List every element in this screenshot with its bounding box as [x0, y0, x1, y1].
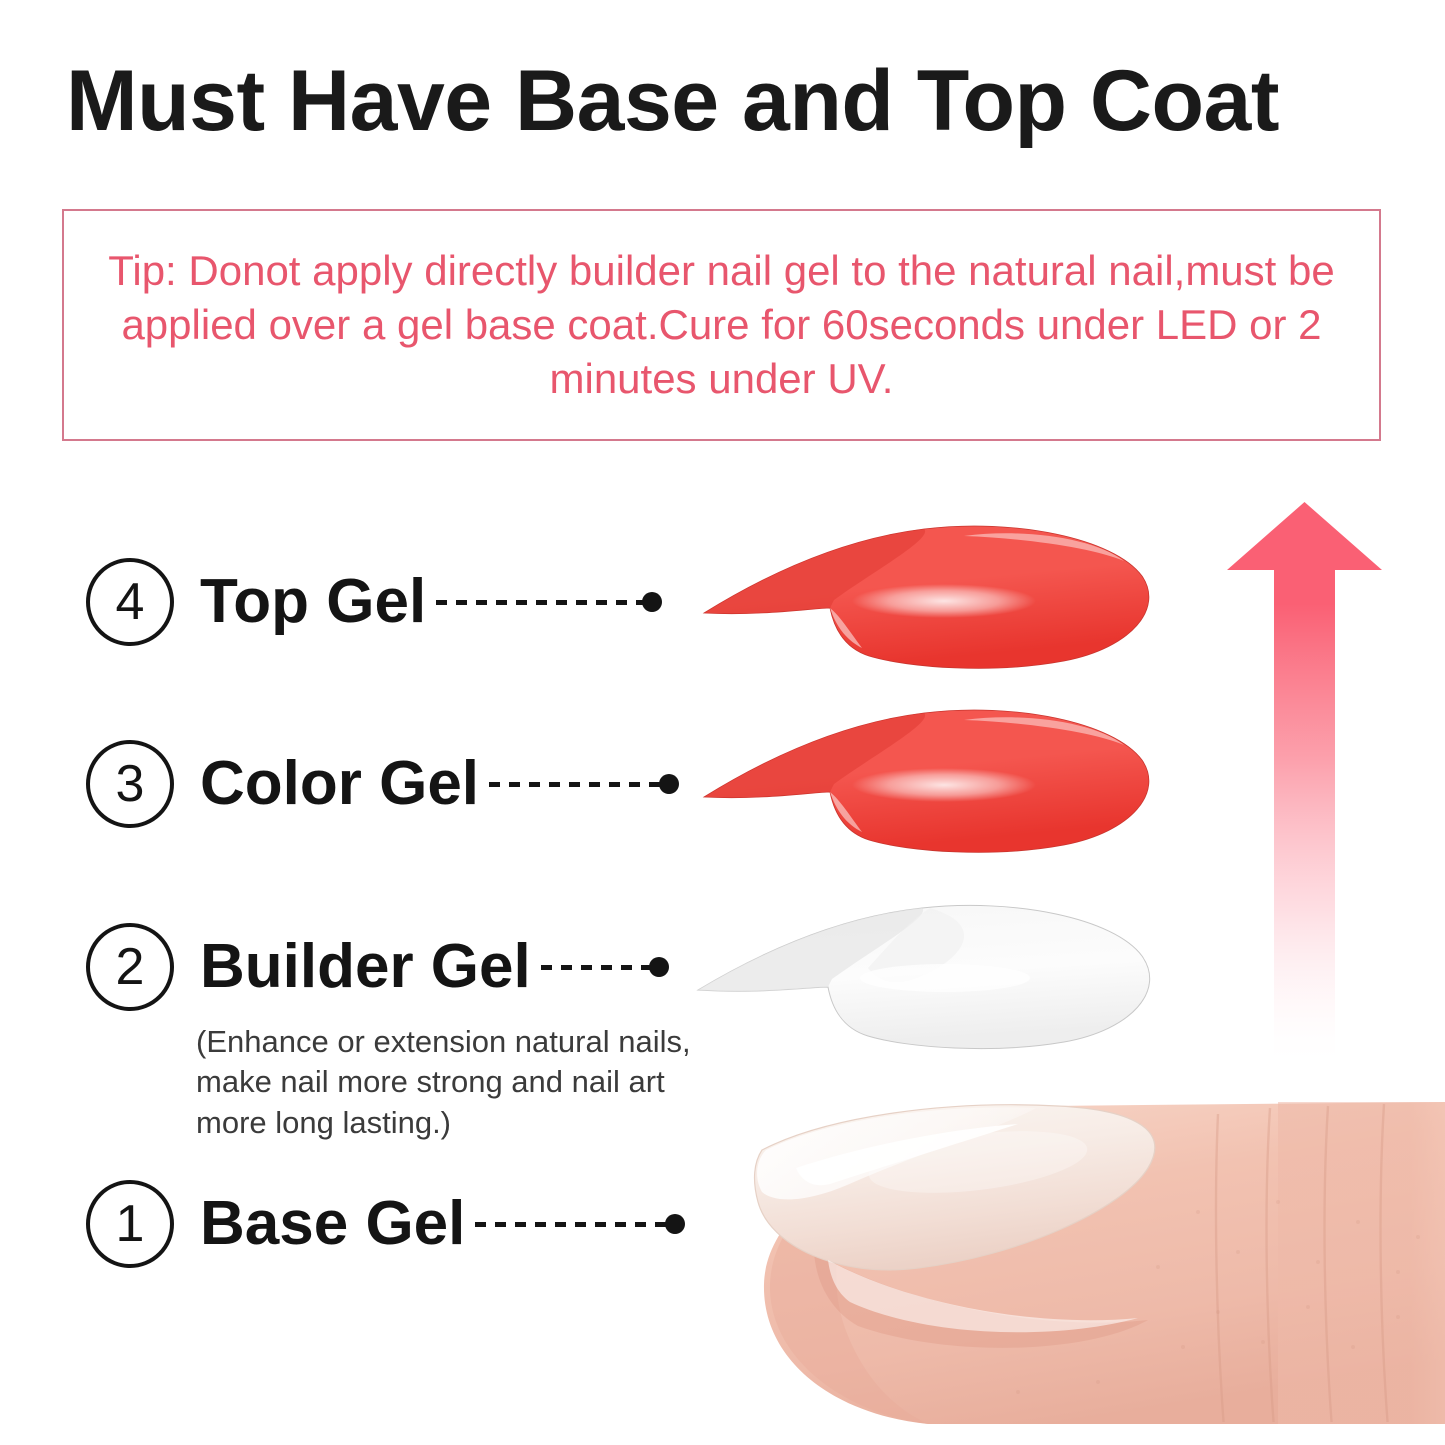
step-row-builder-gel: 2 Builder Gel [86, 923, 669, 1011]
leader-dash-icon [475, 1222, 667, 1227]
leader-line-color-gel [489, 781, 661, 787]
layered-gel-application-infographic: Must Have Base and Top Coat Tip: Donot a… [0, 0, 1445, 1445]
leader-endpoint-dot-icon [665, 1214, 685, 1234]
builder-gel-note: (Enhance or extension natural nails, mak… [196, 1022, 741, 1143]
up-arrow-icon [1222, 498, 1387, 1068]
step-label-color-gel: Color Gel [200, 753, 479, 815]
step-number-circle-4: 4 [86, 558, 174, 646]
step-number-circle-3: 3 [86, 740, 174, 828]
leader-line-base-gel [475, 1221, 667, 1227]
step-number-label: 1 [116, 1198, 145, 1250]
leader-endpoint-dot-icon [649, 957, 669, 977]
step-row-base-gel: 1 Base Gel [86, 1180, 685, 1268]
step-label-base-gel: Base Gel [200, 1193, 465, 1255]
page-title: Must Have Base and Top Coat [66, 58, 1396, 144]
tip-text: Tip: Donot apply directly builder nail g… [64, 244, 1379, 405]
step-number-label: 2 [116, 941, 145, 993]
tip-callout-box: Tip: Donot apply directly builder nail g… [62, 209, 1381, 441]
red-gel-blob-top-gel-icon [694, 516, 1164, 682]
step-row-color-gel: 3 Color Gel [86, 740, 679, 828]
leader-line-builder-gel [541, 964, 651, 970]
finger-with-natural-nail-photo [718, 1092, 1445, 1445]
leader-dash-icon [541, 965, 651, 970]
step-row-top-gel: 4 Top Gel [86, 558, 662, 646]
red-gel-blob-color-gel-icon [694, 700, 1164, 866]
leader-line-top-gel [436, 599, 644, 605]
step-label-builder-gel: Builder Gel [200, 936, 531, 998]
step-number-label: 3 [116, 758, 145, 810]
step-number-circle-2: 2 [86, 923, 174, 1011]
leader-endpoint-dot-icon [642, 592, 662, 612]
step-label-top-gel: Top Gel [200, 571, 426, 633]
step-number-label: 4 [116, 576, 145, 628]
clear-gel-blob-builder-gel-icon [690, 898, 1170, 1063]
step-number-circle-1: 1 [86, 1180, 174, 1268]
leader-dash-icon [436, 600, 644, 605]
leader-endpoint-dot-icon [659, 774, 679, 794]
leader-dash-icon [489, 782, 661, 787]
